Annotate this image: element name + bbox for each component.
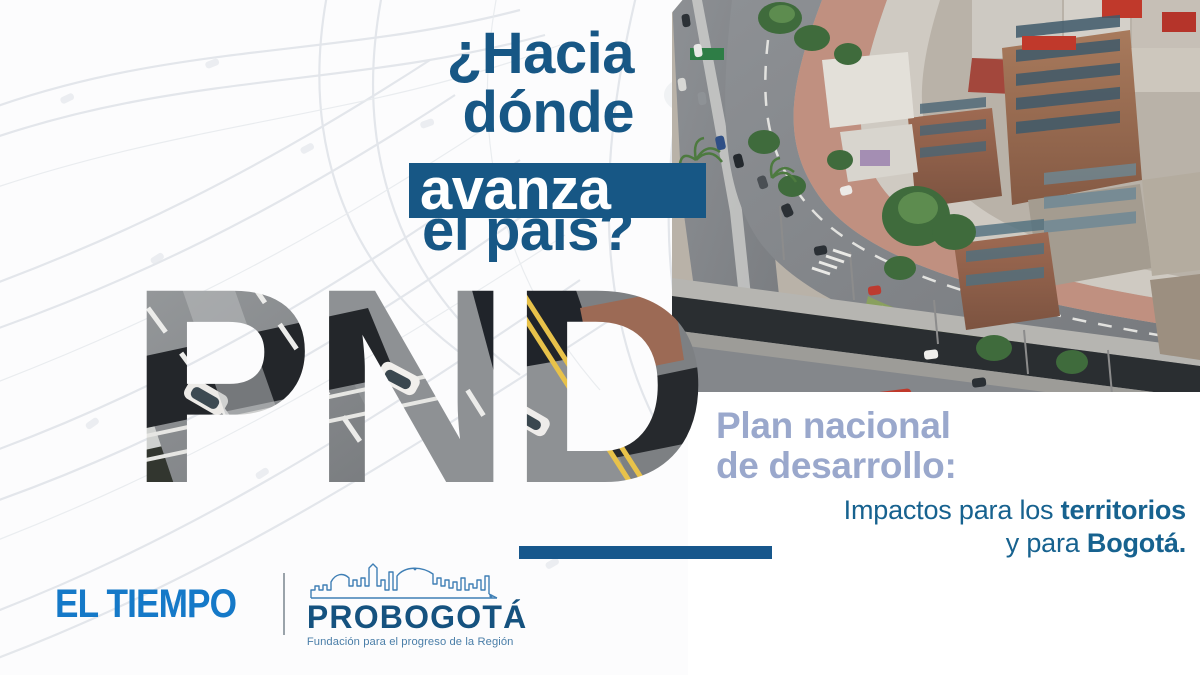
subtitle-detail-1-bold: territorios bbox=[1061, 495, 1186, 525]
headline-line-1: ¿Hacia bbox=[74, 24, 634, 83]
subtitle-block: Plan nacional de desarrollo: Impactos pa… bbox=[716, 406, 1186, 559]
logo-bar: EL TIEMPO PROBOGOTÁ Fundación para el pr… bbox=[55, 560, 522, 648]
subtitle-heading-line-2: de desarrollo: bbox=[716, 446, 1186, 486]
promo-poster: PND bbox=[0, 0, 1200, 675]
probogota-tagline: Fundación para el progreso de la Región bbox=[307, 636, 522, 648]
subtitle-detail-2-bold: Bogotá. bbox=[1087, 528, 1186, 558]
eltiempo-logo[interactable]: EL TIEMPO bbox=[55, 582, 236, 627]
probogota-logo[interactable]: PROBOGOTÁ Fundación para el progreso de … bbox=[307, 560, 522, 648]
probogota-name: PROBOGOTÁ bbox=[307, 601, 522, 633]
logo-divider bbox=[283, 573, 285, 635]
headline-highlight-word: avanza bbox=[420, 161, 610, 219]
bogota-skyline-icon bbox=[309, 560, 509, 600]
headline: ¿Hacia dónde avanza el país? bbox=[74, 24, 634, 261]
subtitle-detail: Impactos para los territorios y para Bog… bbox=[716, 494, 1186, 559]
subtitle-detail-line-1: Impactos para los territorios bbox=[716, 494, 1186, 526]
subtitle-detail-2-normal: y para bbox=[1006, 528, 1087, 558]
bogota-aerial-photo bbox=[672, 0, 1200, 420]
pnd-wordmark: PND bbox=[128, 268, 713, 526]
subtitle-heading: Plan nacional de desarrollo: bbox=[716, 406, 1186, 485]
headline-line-2: dónde bbox=[74, 83, 634, 142]
subtitle-rule bbox=[519, 546, 772, 559]
subtitle-detail-1-normal: Impactos para los bbox=[844, 495, 1061, 525]
subtitle-detail-line-2: y para Bogotá. bbox=[716, 527, 1186, 559]
subtitle-heading-line-1: Plan nacional bbox=[716, 406, 1186, 446]
